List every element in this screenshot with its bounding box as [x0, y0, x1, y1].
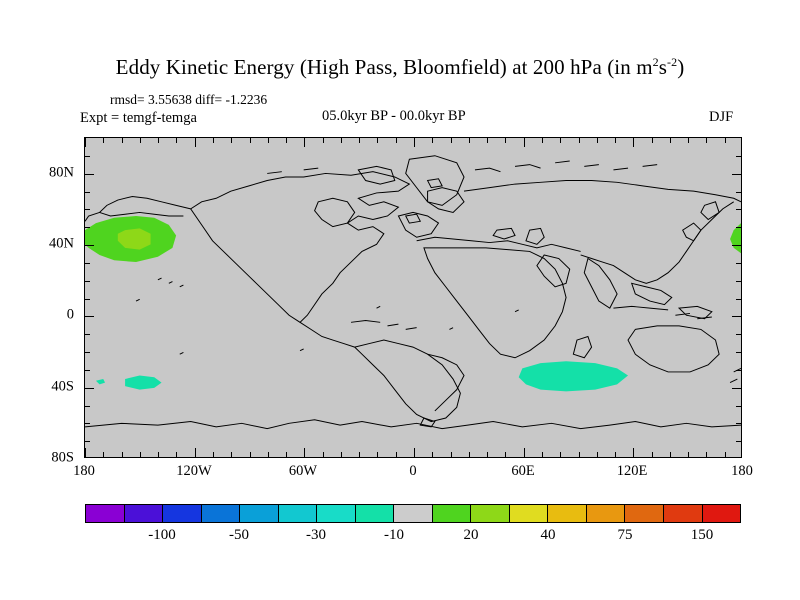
yaxis-label-80n: 80N — [22, 165, 74, 182]
xtick-minor — [377, 452, 378, 457]
xtick-top-minor — [103, 138, 104, 143]
xtick-minor — [158, 452, 159, 457]
ytick-right-minor — [736, 281, 741, 282]
xtick-minor — [103, 452, 104, 457]
ytick-right-minor — [736, 441, 741, 442]
ytick-minor — [85, 281, 90, 282]
colorbar-label-75: 75 — [618, 527, 633, 544]
colorbar-segment-15 — [625, 505, 664, 522]
colorbar-label-minus100: -100 — [148, 527, 176, 544]
xtick-top-minor — [158, 138, 159, 143]
xtick-minor — [122, 452, 123, 457]
ytick-right-minor — [736, 192, 741, 193]
colorbar-label-minus50: -50 — [229, 527, 249, 544]
ytick-right-minor — [736, 334, 741, 335]
ytick-right-minor — [736, 263, 741, 264]
ytick-minor — [85, 406, 90, 407]
title-unit-s: s — [659, 55, 667, 79]
xtick-top-minor — [451, 138, 452, 143]
colorbar — [85, 504, 741, 523]
colorbar-segment-9-neutral — [394, 505, 433, 522]
xtick-major-120w — [195, 448, 196, 457]
colorbar-segment-8 — [356, 505, 395, 522]
colorbar-label-minus10: -10 — [384, 527, 404, 544]
ytick-major-40n — [85, 245, 94, 246]
xtick-major-120e — [633, 448, 634, 457]
xtick-minor — [487, 452, 488, 457]
xtick-major-60w — [304, 448, 305, 457]
ytick-right-major — [732, 174, 741, 175]
colorbar-segment-11 — [471, 505, 510, 522]
xtick-minor — [396, 452, 397, 457]
xtick-minor — [579, 452, 580, 457]
xtick-minor — [359, 452, 360, 457]
title-superscript-exponent-minus-2: -2 — [667, 55, 677, 69]
xtick-top-minor — [377, 138, 378, 143]
period-annotation: 05.0kyr BP - 00.0kyr BP — [322, 108, 466, 125]
yaxis-label-80s: 80S — [22, 450, 74, 467]
ytick-major-80n — [85, 174, 94, 175]
xtick-top-minor — [688, 138, 689, 143]
xtick-minor — [213, 452, 214, 457]
xaxis-label-180w: 180 — [73, 463, 95, 480]
xtick-top-minor — [706, 138, 707, 143]
colorbar-label-40: 40 — [541, 527, 556, 544]
xtick-top-minor — [231, 138, 232, 143]
ytick-minor — [85, 263, 90, 264]
colorbar-segment-14 — [587, 505, 626, 522]
experiment-annotation: Expt = temgf-temga — [80, 110, 197, 127]
xtick-minor — [652, 452, 653, 457]
ytick-major-40s — [85, 388, 94, 389]
ytick-minor — [85, 156, 90, 157]
xtick-minor — [688, 452, 689, 457]
xtick-minor — [140, 452, 141, 457]
xtick-top-major — [304, 138, 305, 147]
xaxis-label-60e: 60E — [511, 463, 534, 480]
ytick-right-minor — [736, 406, 741, 407]
colorbar-label-20: 20 — [464, 527, 479, 544]
xtick-minor — [505, 452, 506, 457]
xaxis-label-120e: 120E — [617, 463, 648, 480]
yaxis-label-40n: 40N — [22, 236, 74, 253]
colorbar-segment-4 — [202, 505, 241, 522]
xtick-top-minor — [542, 138, 543, 143]
ytick-minor — [85, 192, 90, 193]
xtick-minor — [176, 452, 177, 457]
xaxis-label-120w: 120W — [176, 463, 211, 480]
xtick-minor — [469, 452, 470, 457]
colorbar-segment-13 — [548, 505, 587, 522]
xtick-minor — [706, 452, 707, 457]
yaxis-label-40s: 40S — [22, 379, 74, 396]
colorbar-label-150: 150 — [691, 527, 714, 544]
xtick-minor — [341, 452, 342, 457]
title-main-post: ) — [677, 55, 684, 79]
xtick-top-major — [85, 138, 86, 147]
xtick-top-minor — [341, 138, 342, 143]
xtick-minor — [615, 452, 616, 457]
page-title: Eddy Kinetic Energy (High Pass, Bloomfie… — [0, 55, 800, 80]
xtick-minor — [268, 452, 269, 457]
xtick-top-minor — [176, 138, 177, 143]
season-annotation: DJF — [709, 109, 733, 126]
ytick-right-major — [732, 388, 741, 389]
xtick-top-minor — [432, 138, 433, 143]
xtick-minor — [286, 452, 287, 457]
xtick-top-minor — [670, 138, 671, 143]
ytick-minor — [85, 423, 90, 424]
ytick-right-major — [732, 316, 741, 317]
ytick-right-minor — [736, 370, 741, 371]
ytick-right-major — [732, 245, 741, 246]
xtick-top-minor — [615, 138, 616, 143]
xtick-top-minor — [323, 138, 324, 143]
ytick-right-minor — [736, 156, 741, 157]
xtick-minor — [432, 452, 433, 457]
xtick-top-minor — [286, 138, 287, 143]
colorbar-segment-17 — [703, 505, 741, 522]
xtick-top-minor — [469, 138, 470, 143]
xtick-top-minor — [505, 138, 506, 143]
colorbar-segment-2 — [125, 505, 164, 522]
xtick-top-minor — [652, 138, 653, 143]
xtick-top-minor — [213, 138, 214, 143]
xtick-minor — [670, 452, 671, 457]
xtick-top-minor — [268, 138, 269, 143]
xtick-top-minor — [359, 138, 360, 143]
colorbar-segment-5 — [240, 505, 279, 522]
xtick-major-0 — [414, 448, 415, 457]
colorbar-label-minus30: -30 — [306, 527, 326, 544]
xtick-major-180w — [85, 448, 86, 457]
ytick-right-minor — [736, 352, 741, 353]
xtick-minor — [323, 452, 324, 457]
colorbar-segment-12 — [510, 505, 549, 522]
colorbar-segment-10 — [433, 505, 472, 522]
ytick-minor — [85, 352, 90, 353]
xtick-minor — [560, 452, 561, 457]
colorbar-segment-3 — [163, 505, 202, 522]
xtick-minor — [542, 452, 543, 457]
xtick-major-60e — [524, 448, 525, 457]
ytick-minor — [85, 334, 90, 335]
xtick-top-minor — [560, 138, 561, 143]
ytick-minor — [85, 370, 90, 371]
xtick-top-minor — [487, 138, 488, 143]
xtick-top-major — [524, 138, 525, 147]
xtick-top-major — [414, 138, 415, 147]
xtick-minor — [231, 452, 232, 457]
xtick-top-minor — [140, 138, 141, 143]
xtick-top-major — [633, 138, 634, 147]
rmsd-annotation: rmsd= 3.55638 diff= -1.2236 — [110, 92, 267, 108]
world-map-svg — [85, 138, 741, 457]
colorbar-segment-6 — [279, 505, 318, 522]
xtick-top-minor — [396, 138, 397, 143]
ytick-minor — [85, 209, 90, 210]
xtick-top-minor — [250, 138, 251, 143]
xtick-top-minor — [579, 138, 580, 143]
xtick-minor — [451, 452, 452, 457]
xtick-top-minor — [122, 138, 123, 143]
xtick-top-major — [195, 138, 196, 147]
map-canvas — [85, 138, 741, 457]
xtick-minor — [597, 452, 598, 457]
ytick-minor — [85, 299, 90, 300]
ytick-minor — [85, 441, 90, 442]
ytick-right-minor — [736, 227, 741, 228]
colorbar-segment-16 — [664, 505, 703, 522]
ytick-major-0 — [85, 316, 94, 317]
xtick-minor — [250, 452, 251, 457]
xaxis-label-60w: 60W — [289, 463, 317, 480]
xtick-minor — [725, 452, 726, 457]
colorbar-segment-7 — [317, 505, 356, 522]
map-plot-area — [84, 137, 742, 458]
title-main-pre: Eddy Kinetic Energy (High Pass, Bloomfie… — [116, 55, 653, 79]
xaxis-label-0: 0 — [409, 463, 416, 480]
yaxis-label-0: 0 — [22, 307, 74, 324]
xtick-top-minor — [725, 138, 726, 143]
colorbar-segment-1 — [86, 505, 125, 522]
ytick-right-minor — [736, 423, 741, 424]
xaxis-label-180e: 180 — [731, 463, 753, 480]
ytick-minor — [85, 227, 90, 228]
ytick-right-minor — [736, 299, 741, 300]
xtick-top-minor — [597, 138, 598, 143]
ytick-right-minor — [736, 209, 741, 210]
